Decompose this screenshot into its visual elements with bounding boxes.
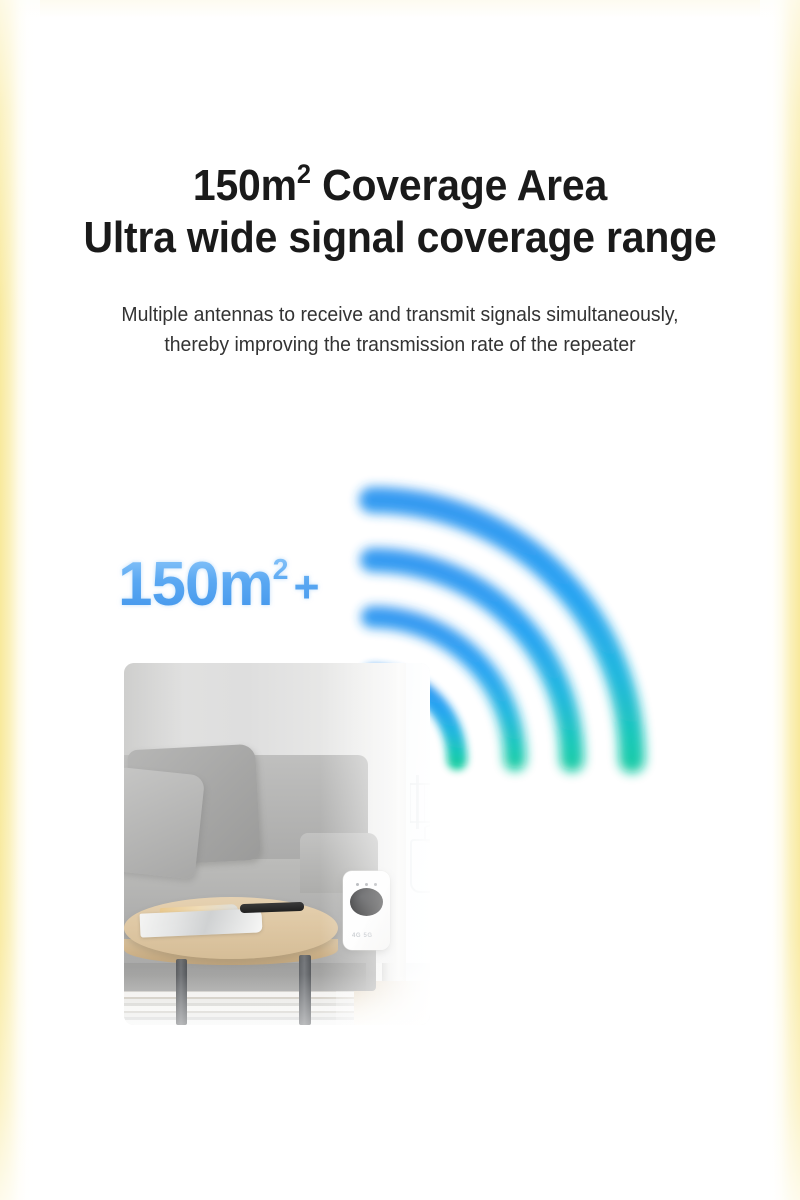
headline-line-2: Ultra wide signal coverage range xyxy=(28,212,772,264)
headline-area-unit: m xyxy=(261,161,297,210)
subhead-line-1: Multiple antennas to receive and transmi… xyxy=(12,300,788,330)
headline-area-value: 150 xyxy=(193,161,261,210)
area-badge-unit: m xyxy=(218,550,272,619)
top-wash xyxy=(0,0,800,18)
photo-bottom-fade xyxy=(124,913,430,1025)
subhead-line-2: thereby improving the transmission rate … xyxy=(12,330,788,360)
promo-page: 150m2 Coverage Area Ultra wide signal co… xyxy=(0,0,800,1200)
headline-block: 150m2 Coverage Area Ultra wide signal co… xyxy=(0,160,800,264)
living-room-photo: 4G 5G xyxy=(124,663,430,1025)
area-badge-value: 150 xyxy=(118,550,218,619)
subhead-block: Multiple antennas to receive and transmi… xyxy=(0,300,800,360)
area-badge-superscript: 2 xyxy=(273,554,289,586)
headline-line-1: 150m2 Coverage Area xyxy=(28,160,772,212)
area-badge-plus: + xyxy=(288,563,318,612)
area-badge: 150m2+ xyxy=(118,552,319,621)
headline-area-superscript: 2 xyxy=(297,158,311,189)
sofa-cushion xyxy=(124,767,205,880)
headline-area-rest: Coverage Area xyxy=(311,161,607,210)
